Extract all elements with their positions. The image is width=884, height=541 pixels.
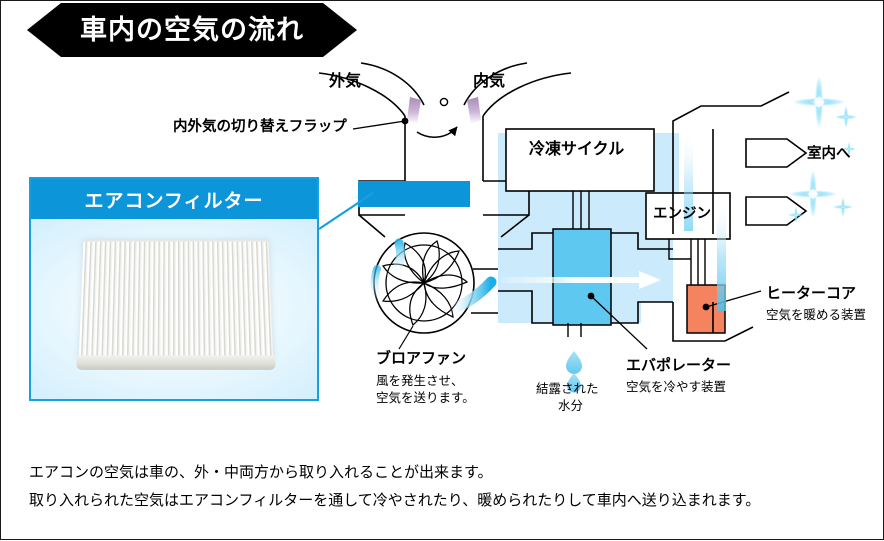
callout-heater-core-title: ヒーターコア bbox=[766, 284, 856, 304]
label-inside-air: 内気 bbox=[473, 71, 505, 92]
callout-condensate-desc-2: 水分 bbox=[558, 398, 583, 415]
callout-blower-fan-desc-1: 風を発生させ、 bbox=[376, 373, 464, 390]
title-banner: 車内の空気の流れ bbox=[27, 3, 357, 57]
caption-block: エアコンの空気は車の、外・中両方から取り入れることが出来ます。 取り入れられた空… bbox=[29, 459, 859, 515]
air-recirculation-flaps bbox=[407, 97, 481, 137]
infographic-root: 車内の空気の流れ bbox=[0, 0, 884, 540]
label-recirculation-flap: 内外気の切り替えフラップ bbox=[173, 118, 347, 137]
label-engine: エンジン bbox=[653, 205, 711, 224]
callout-evaporator-desc: 空気を冷やす装置 bbox=[626, 379, 726, 396]
callout-heater-core-desc: 空気を暖める装置 bbox=[766, 307, 866, 324]
filter-pleats bbox=[78, 240, 273, 370]
label-cabin-outlet: 室内へ bbox=[807, 145, 851, 164]
caption-line-1: エアコンの空気は車の、外・中両方から取り入れることが出来ます。 bbox=[29, 459, 859, 487]
callout-blower-fan-desc-2: 空気を送ります。 bbox=[376, 390, 475, 407]
flap-callout-line bbox=[353, 118, 408, 129]
caption-line-2: 取り入れられた空気はエアコンフィルターを通して冷やされたり、暖められたりして車内… bbox=[29, 487, 859, 515]
filter-pleat-surface bbox=[79, 240, 274, 360]
callout-blower-fan-title: ブロアファン bbox=[376, 349, 466, 369]
filter-callout-line bbox=[319, 193, 373, 229]
filter-panel-title: エアコンフィルター bbox=[84, 186, 263, 213]
callout-condensate-desc-1: 結露された bbox=[536, 381, 599, 398]
label-refrigeration-cycle: 冷凍サイクル bbox=[529, 139, 624, 160]
coolant-pipes bbox=[669, 239, 705, 289]
filter-photo-panel: エアコンフィルター bbox=[29, 177, 319, 401]
label-outside-air: 外気 bbox=[329, 71, 361, 92]
blower-fan bbox=[374, 233, 498, 349]
filter-panel-header: エアコンフィルター bbox=[31, 179, 317, 219]
page-title: 車内の空気の流れ bbox=[80, 17, 304, 44]
filter-frame-edge bbox=[76, 355, 275, 369]
cabin-air-filter-element bbox=[358, 181, 470, 207]
cabin-air-filter-photo bbox=[31, 219, 317, 399]
callout-evaporator-title: エバポレーター bbox=[626, 356, 731, 376]
duct-airflow-glow bbox=[717, 201, 726, 311]
